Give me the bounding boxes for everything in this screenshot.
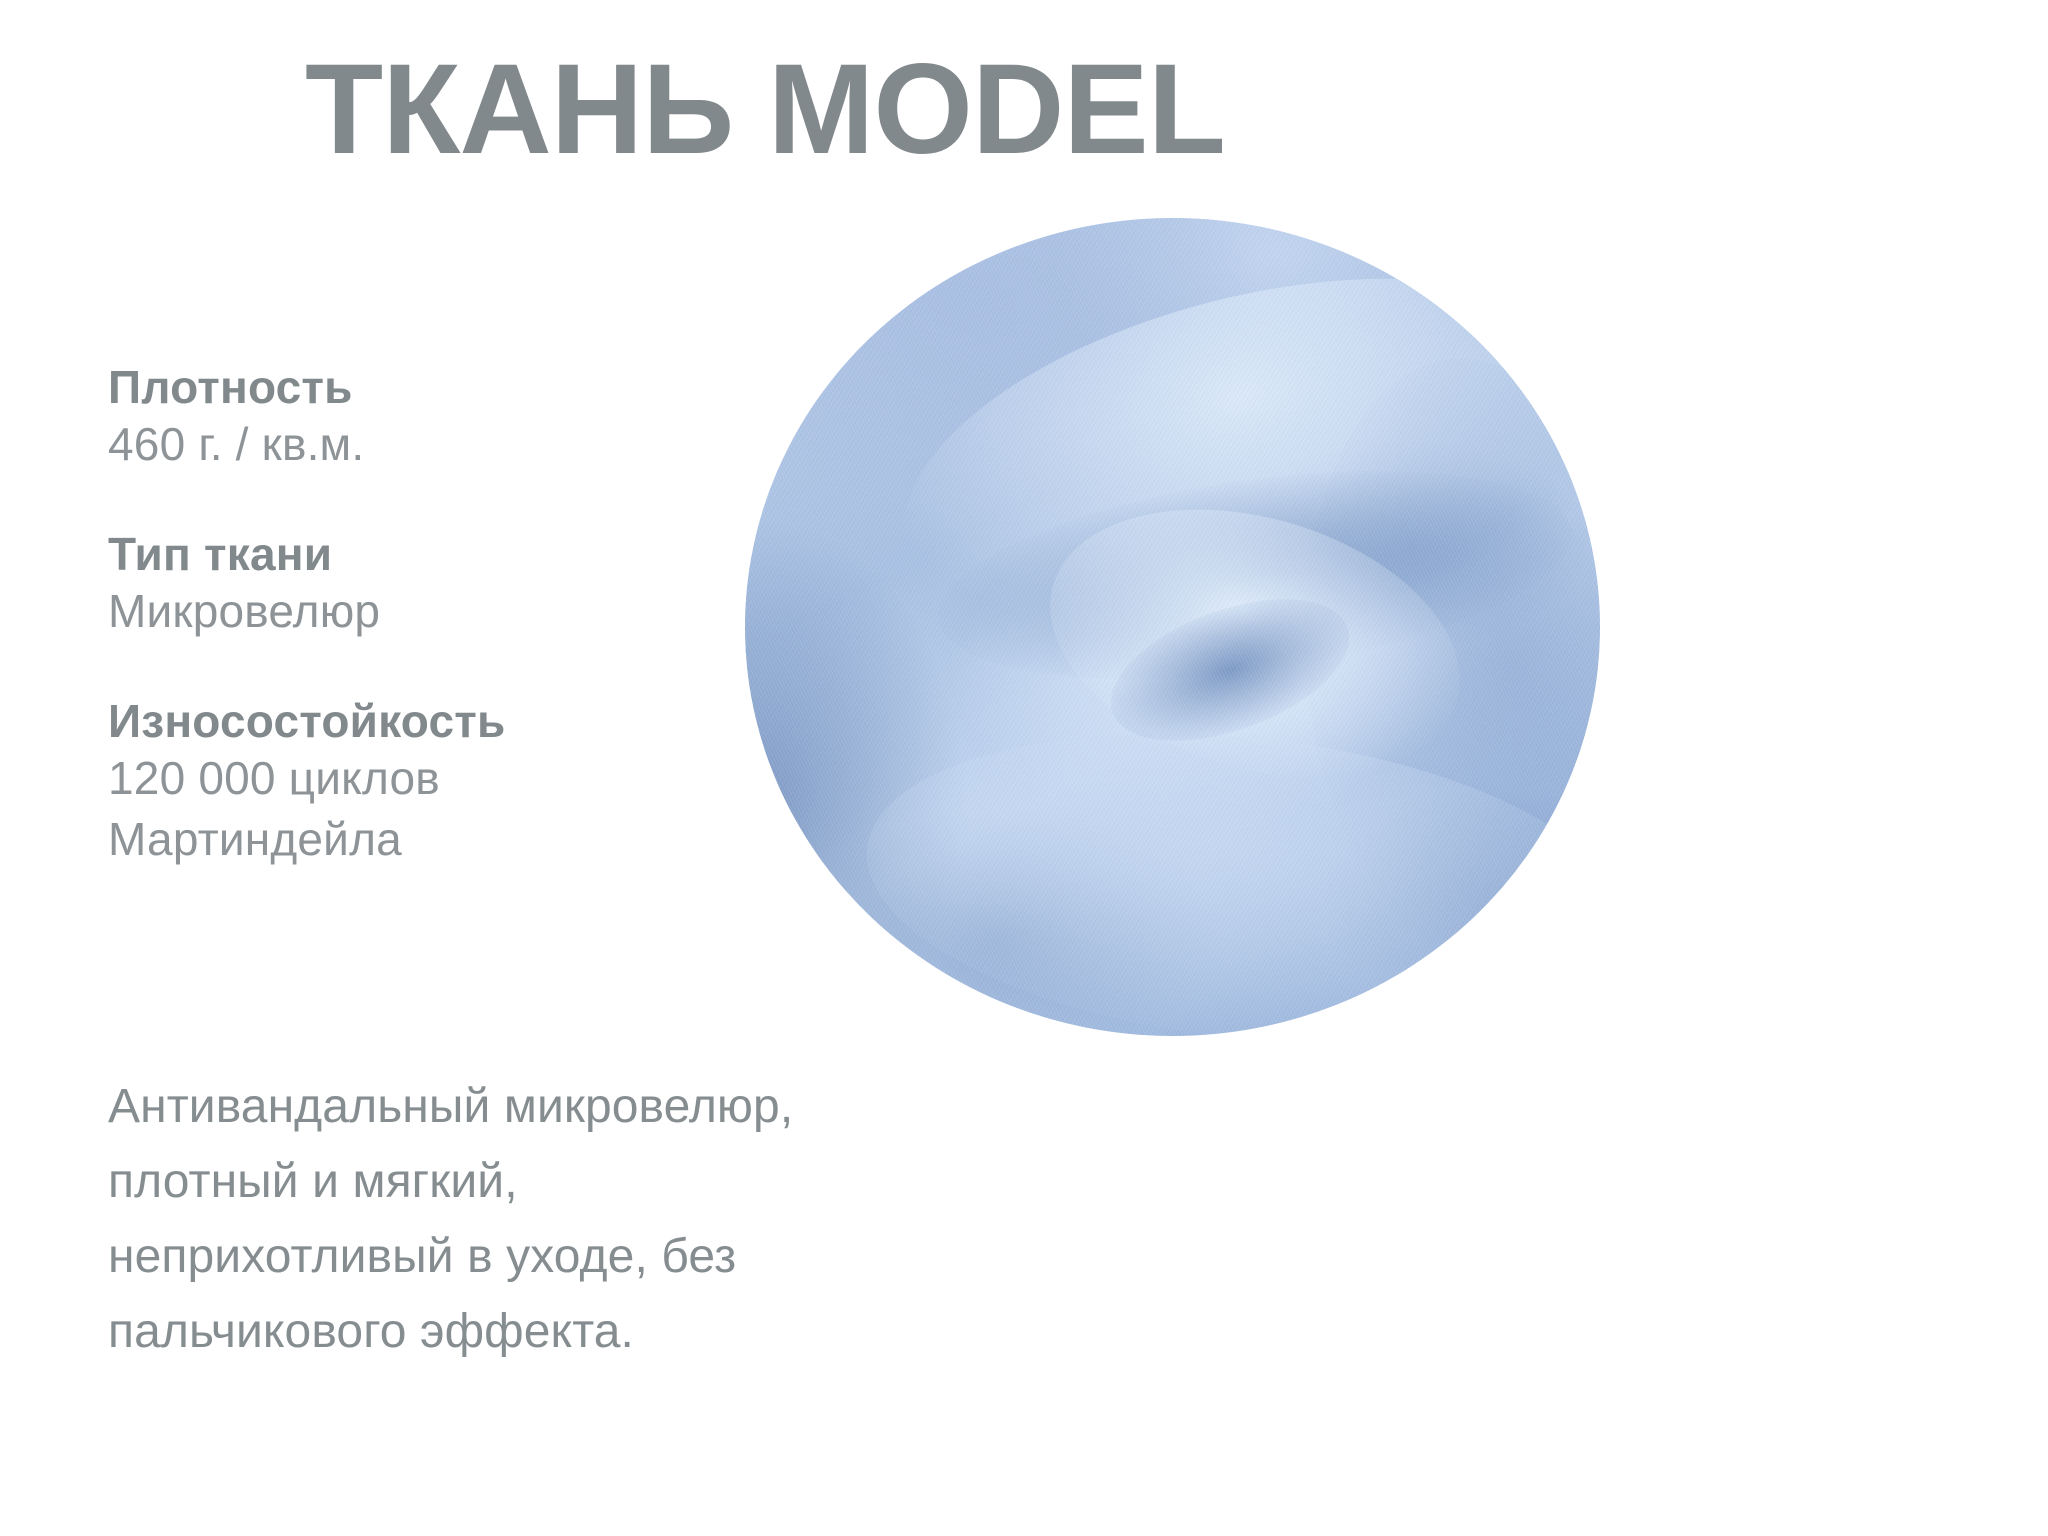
description-line-4: пальчикового эффекта. — [108, 1295, 1008, 1370]
spec-value-density: 460 г. / кв.м. — [108, 414, 728, 475]
description-line-3: неприхотливый в уходе, без — [108, 1220, 1008, 1295]
spec-label-durability: Износостойкость — [108, 694, 728, 748]
page-title: ТКАНЬ MODEL — [0, 38, 1530, 181]
specs-list: Плотность 460 г. / кв.м. Тип ткани Микро… — [108, 360, 728, 870]
description-line-1: Антивандальный микровелюр, — [108, 1070, 1008, 1145]
spec-label-fabric-type: Тип ткани — [108, 527, 728, 581]
spec-item-fabric-type: Тип ткани Микровелюр — [108, 527, 728, 642]
description-paragraph: Антивандальный микровелюр, плотный и мяг… — [108, 1070, 1008, 1370]
spec-value-durability-line-2: Мартиндейла — [108, 809, 728, 870]
spec-item-durability: Износостойкость 120 000 циклов Мартиндей… — [108, 694, 728, 870]
fabric-photo-circle — [745, 218, 1600, 1036]
spec-value-durability-line-1: 120 000 циклов — [108, 748, 728, 809]
spec-item-density: Плотность 460 г. / кв.м. — [108, 360, 728, 475]
spec-label-density: Плотность — [108, 360, 728, 414]
slide-root: ТКАНЬ MODEL Плотность 460 г. / кв.м. Тип… — [0, 0, 2048, 1536]
description-line-2: плотный и мягкий, — [108, 1145, 1008, 1220]
spec-value-fabric-type: Микровелюр — [108, 581, 728, 642]
fabric-swatch-photo — [745, 218, 1600, 1036]
fabric-nap-texture — [745, 218, 1600, 1036]
